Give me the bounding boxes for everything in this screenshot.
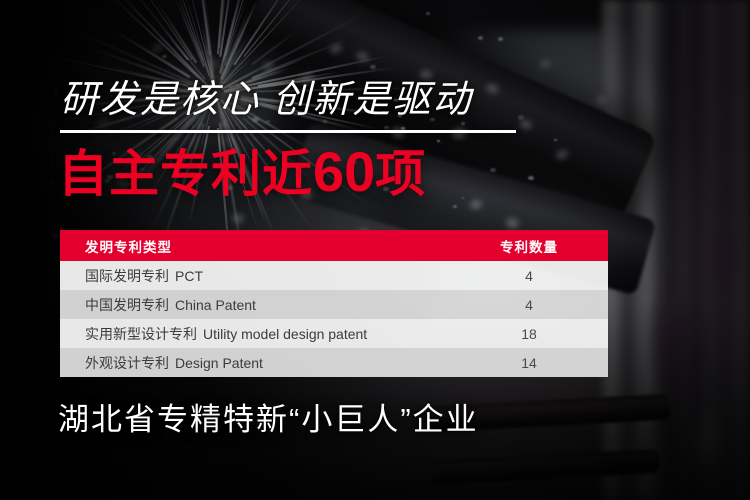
patent-type-en: PCT bbox=[175, 268, 203, 284]
patent-type-cn: 外观设计专利 bbox=[85, 355, 169, 371]
headline-main-prefix: 自主专利近 bbox=[58, 146, 313, 202]
cell-patent-type: 外观设计专利Design Patent bbox=[60, 353, 458, 373]
patent-type-en: Utility model design patent bbox=[203, 326, 367, 342]
banner-content: 研发是核心 创新是驱动 自主专利近60项 发明专利类型 专利数量 国际发明专利P… bbox=[0, 0, 750, 500]
patent-type-cn: 实用新型设计专利 bbox=[85, 326, 197, 342]
patent-table: 发明专利类型 专利数量 国际发明专利PCT4中国发明专利China Patent… bbox=[60, 230, 608, 377]
patent-banner: 研发是核心 创新是驱动 自主专利近60项 发明专利类型 专利数量 国际发明专利P… bbox=[0, 0, 750, 500]
table-header-row: 发明专利类型 专利数量 bbox=[60, 230, 608, 261]
cell-patent-type: 国际发明专利PCT bbox=[60, 266, 458, 286]
headline-main: 自主专利近60项 bbox=[58, 143, 426, 203]
headline-divider-rule bbox=[60, 130, 516, 133]
headline-top: 研发是核心 创新是驱动 bbox=[60, 78, 473, 122]
table-row: 国际发明专利PCT4 bbox=[60, 261, 608, 290]
cell-patent-count: 4 bbox=[458, 297, 608, 313]
headline-main-suffix: 项 bbox=[375, 146, 426, 202]
cell-patent-type: 实用新型设计专利Utility model design patent bbox=[60, 324, 458, 344]
patent-type-cn: 中国发明专利 bbox=[85, 297, 169, 313]
table-row: 实用新型设计专利Utility model design patent18 bbox=[60, 319, 608, 348]
table-row: 中国发明专利China Patent4 bbox=[60, 290, 608, 319]
patent-type-en: Design Patent bbox=[175, 355, 263, 371]
column-header-count: 专利数量 bbox=[458, 236, 608, 256]
cell-patent-count: 14 bbox=[458, 355, 608, 371]
tagline: 湖北省专精特新“小巨人”企业 bbox=[58, 400, 479, 440]
patent-type-en: China Patent bbox=[175, 297, 256, 313]
patent-type-cn: 国际发明专利 bbox=[85, 268, 169, 284]
column-header-type: 发明专利类型 bbox=[60, 236, 458, 256]
cell-patent-count: 4 bbox=[458, 268, 608, 284]
table-body: 国际发明专利PCT4中国发明专利China Patent4实用新型设计专利Uti… bbox=[60, 261, 608, 377]
cell-patent-type: 中国发明专利China Patent bbox=[60, 295, 458, 315]
cell-patent-count: 18 bbox=[458, 326, 608, 342]
table-row: 外观设计专利Design Patent14 bbox=[60, 348, 608, 377]
headline-main-number: 60 bbox=[313, 140, 375, 203]
